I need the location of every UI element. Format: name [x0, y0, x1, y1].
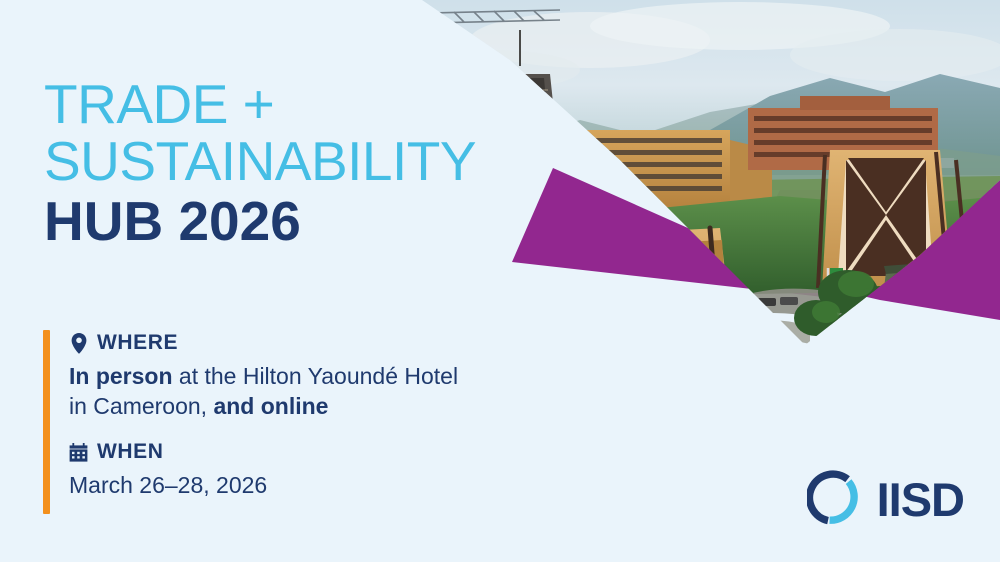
parked-cars: [720, 297, 798, 343]
where-group: WHERE In person at the Hilton Yaoundé Ho…: [69, 330, 583, 421]
conference-block: [540, 130, 772, 208]
iisd-logo: IISD: [807, 470, 964, 528]
when-value: March 26–28, 2026: [69, 470, 583, 500]
iisd-ring-icon: [807, 470, 865, 528]
where-value-plain-2: in Cameroon,: [69, 393, 213, 419]
hotel-block: [748, 96, 938, 170]
where-value-plain-1: at the Hilton Yaoundé Hotel: [173, 363, 459, 389]
headline-line-2: SUSTAINABILITY: [44, 133, 564, 190]
foreground-trees: [794, 251, 962, 350]
map-pin-icon: [69, 332, 88, 354]
iisd-wordmark: IISD: [877, 476, 964, 523]
purple-shape-right: [740, 0, 1000, 320]
page-title: TRADE + SUSTAINABILITY HUB 2026: [44, 76, 564, 250]
where-value: In person at the Hilton Yaoundé Hotel in…: [69, 361, 583, 421]
where-value-bold-1: In person: [69, 363, 173, 389]
when-label: WHEN: [97, 439, 164, 465]
where-value-bold-2: and online: [213, 393, 328, 419]
headline-line-3: HUB 2026: [44, 190, 564, 250]
where-heading: WHERE: [69, 330, 583, 356]
event-details: WHERE In person at the Hilton Yaoundé Ho…: [43, 330, 583, 500]
when-group: WHEN March 26–28, 2026: [69, 439, 583, 500]
accent-bar: [43, 330, 50, 514]
where-label: WHERE: [97, 330, 178, 356]
calendar-icon: [69, 441, 88, 463]
headline-line-1: TRADE +: [44, 76, 564, 133]
event-banner: TRADE + SUSTAINABILITY HUB 2026 WHERE In…: [0, 0, 1000, 562]
purple-shape-group: [512, 0, 1000, 320]
conference-centre: [818, 150, 968, 290]
when-heading: WHEN: [69, 439, 583, 465]
